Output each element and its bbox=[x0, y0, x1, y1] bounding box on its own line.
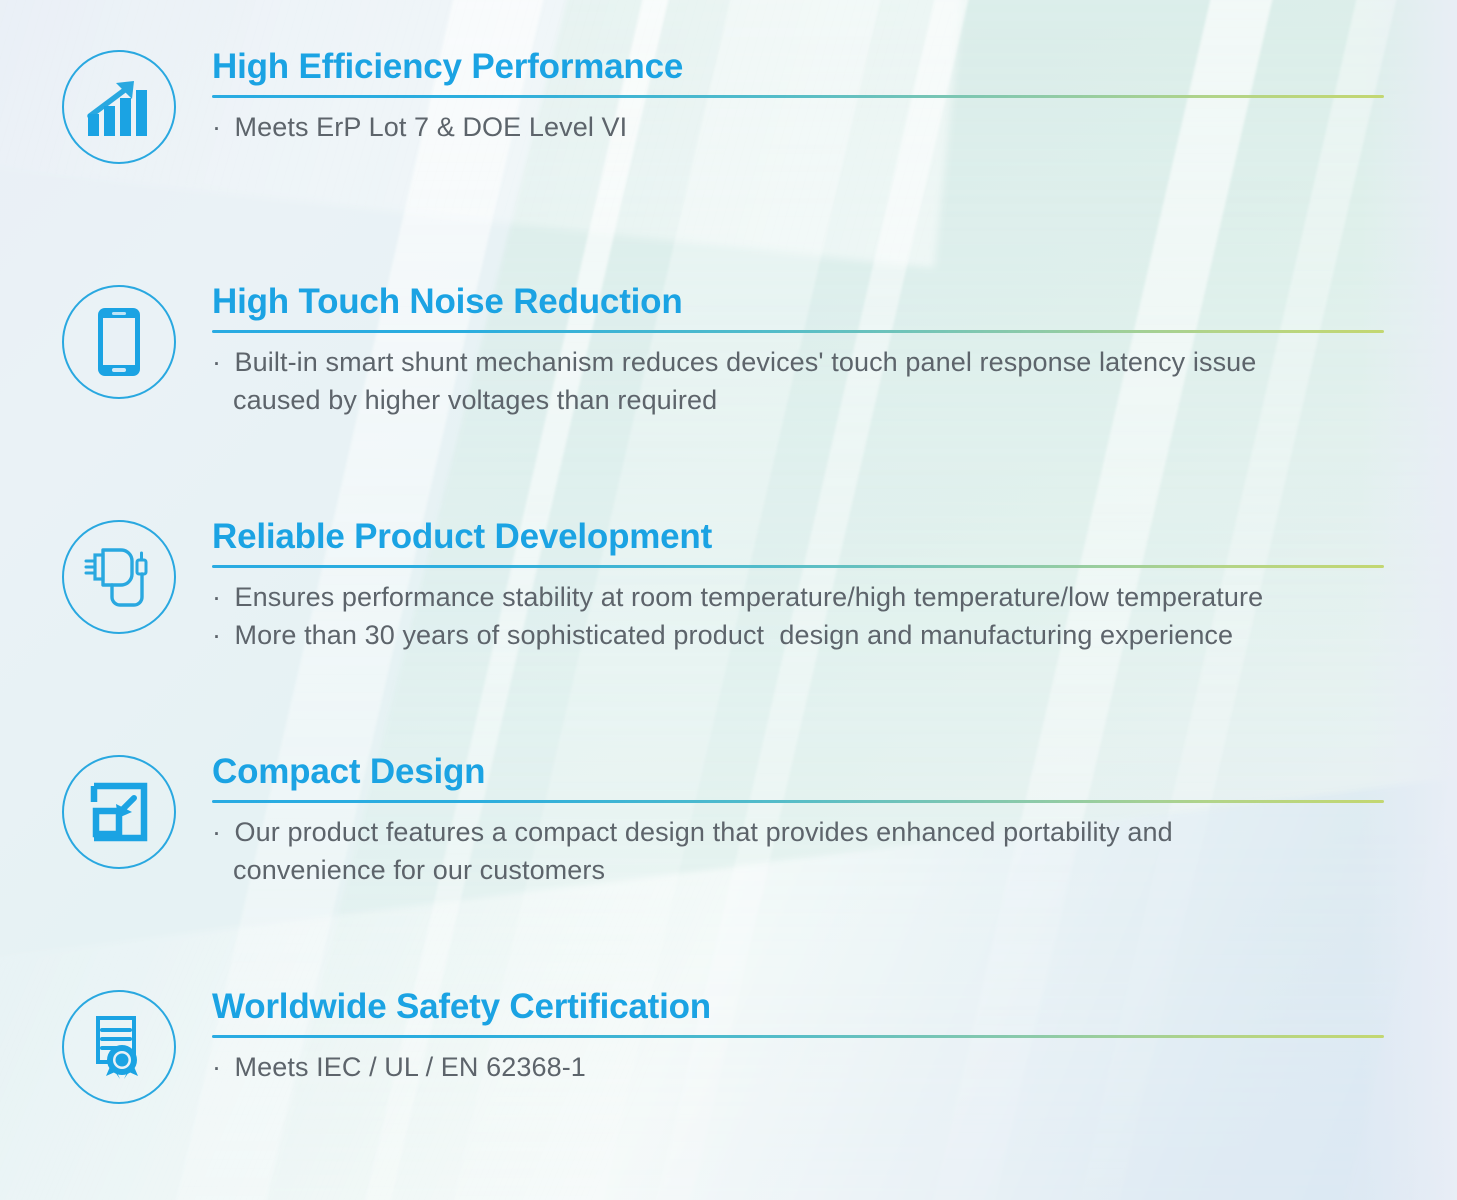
bullet-text: Built-in smart shunt mechanism reduces d… bbox=[235, 347, 1257, 377]
feature-bullet-line-continuation: caused by higher voltages than required bbox=[212, 382, 1387, 420]
feature-bullet-line-continuation: convenience for our customers bbox=[212, 852, 1387, 890]
feature-block-compact-design: Compact Design · Our product features a … bbox=[56, 749, 1387, 889]
feature-divider-rule bbox=[212, 1035, 1384, 1038]
feature-body: High Touch Noise Reduction · Built-in sm… bbox=[212, 279, 1387, 419]
bullet-dot: · bbox=[212, 582, 227, 612]
feature-bullet-line: · Our product features a compact design … bbox=[212, 814, 1387, 852]
feature-icon-wrapper bbox=[56, 514, 182, 640]
feature-bullet-line: · Ensures performance stability at room … bbox=[212, 579, 1387, 617]
feature-title: High Touch Noise Reduction bbox=[212, 283, 1387, 321]
feature-body: Reliable Product Development · Ensures p… bbox=[212, 514, 1387, 654]
feature-body: Worldwide Safety Certification · Meets I… bbox=[212, 984, 1387, 1087]
feature-bullet-list: · Ensures performance stability at room … bbox=[212, 579, 1387, 655]
icon-circle-frame bbox=[62, 520, 176, 634]
feature-body: High Efficiency Performance · Meets ErP … bbox=[212, 44, 1387, 147]
bullet-dot: · bbox=[212, 112, 227, 142]
feature-bullet-line: · Built-in smart shunt mechanism reduces… bbox=[212, 344, 1387, 382]
bullet-text: Meets ErP Lot 7 & DOE Level VI bbox=[235, 112, 628, 142]
certificate-award-icon bbox=[88, 1012, 150, 1082]
feature-title: Compact Design bbox=[212, 753, 1387, 791]
feature-bullet-list: · Built-in smart shunt mechanism reduces… bbox=[212, 344, 1387, 420]
feature-title: Worldwide Safety Certification bbox=[212, 988, 1387, 1026]
compact-resize-icon bbox=[88, 780, 150, 844]
feature-icon-wrapper bbox=[56, 749, 182, 875]
icon-circle-frame bbox=[62, 285, 176, 399]
feature-bullet-line: · Meets IEC / UL / EN 62368-1 bbox=[212, 1049, 1387, 1087]
power-adapter-icon bbox=[81, 542, 157, 612]
feature-icon-wrapper bbox=[56, 44, 182, 170]
feature-block-high-efficiency-performance: High Efficiency Performance · Meets ErP … bbox=[56, 44, 1387, 170]
feature-divider-rule bbox=[212, 565, 1384, 568]
feature-bullet-list: · Meets ErP Lot 7 & DOE Level VI bbox=[212, 109, 1387, 147]
feature-block-high-touch-noise-reduction: High Touch Noise Reduction · Built-in sm… bbox=[56, 279, 1387, 419]
feature-icon-wrapper bbox=[56, 279, 182, 405]
bullet-text: More than 30 years of sophisticated prod… bbox=[235, 620, 1234, 650]
bullet-text: Ensures performance stability at room te… bbox=[235, 582, 1264, 612]
bullet-text: caused by higher voltages than required bbox=[233, 385, 717, 415]
feature-divider-rule bbox=[212, 95, 1384, 98]
feature-divider-rule bbox=[212, 330, 1384, 333]
feature-body: Compact Design · Our product features a … bbox=[212, 749, 1387, 889]
feature-bullet-list: · Meets IEC / UL / EN 62368-1 bbox=[212, 1049, 1387, 1087]
bullet-dot: · bbox=[212, 347, 227, 377]
bar-chart-growth-icon bbox=[86, 76, 152, 138]
feature-title: High Efficiency Performance bbox=[212, 48, 1387, 86]
feature-bullet-line: · Meets ErP Lot 7 & DOE Level VI bbox=[212, 109, 1387, 147]
bullet-dot: · bbox=[212, 620, 227, 650]
smartphone-icon bbox=[97, 307, 141, 377]
bullet-text: convenience for our customers bbox=[233, 855, 605, 885]
feature-list-page: High Efficiency Performance · Meets ErP … bbox=[0, 0, 1457, 1200]
feature-divider-rule bbox=[212, 800, 1384, 803]
feature-block-reliable-product-development: Reliable Product Development · Ensures p… bbox=[56, 514, 1387, 654]
feature-bullet-line: · More than 30 years of sophisticated pr… bbox=[212, 617, 1387, 655]
bullet-dot: · bbox=[212, 817, 227, 847]
feature-bullet-list: · Our product features a compact design … bbox=[212, 814, 1387, 890]
feature-title: Reliable Product Development bbox=[212, 518, 1387, 556]
icon-circle-frame bbox=[62, 990, 176, 1104]
feature-icon-wrapper bbox=[56, 984, 182, 1110]
bullet-text: Our product features a compact design th… bbox=[235, 817, 1173, 847]
bullet-text: Meets IEC / UL / EN 62368-1 bbox=[235, 1052, 586, 1082]
bullet-dot: · bbox=[212, 1052, 227, 1082]
feature-block-worldwide-safety-certification: Worldwide Safety Certification · Meets I… bbox=[56, 984, 1387, 1110]
icon-circle-frame bbox=[62, 755, 176, 869]
icon-circle-frame bbox=[62, 50, 176, 164]
